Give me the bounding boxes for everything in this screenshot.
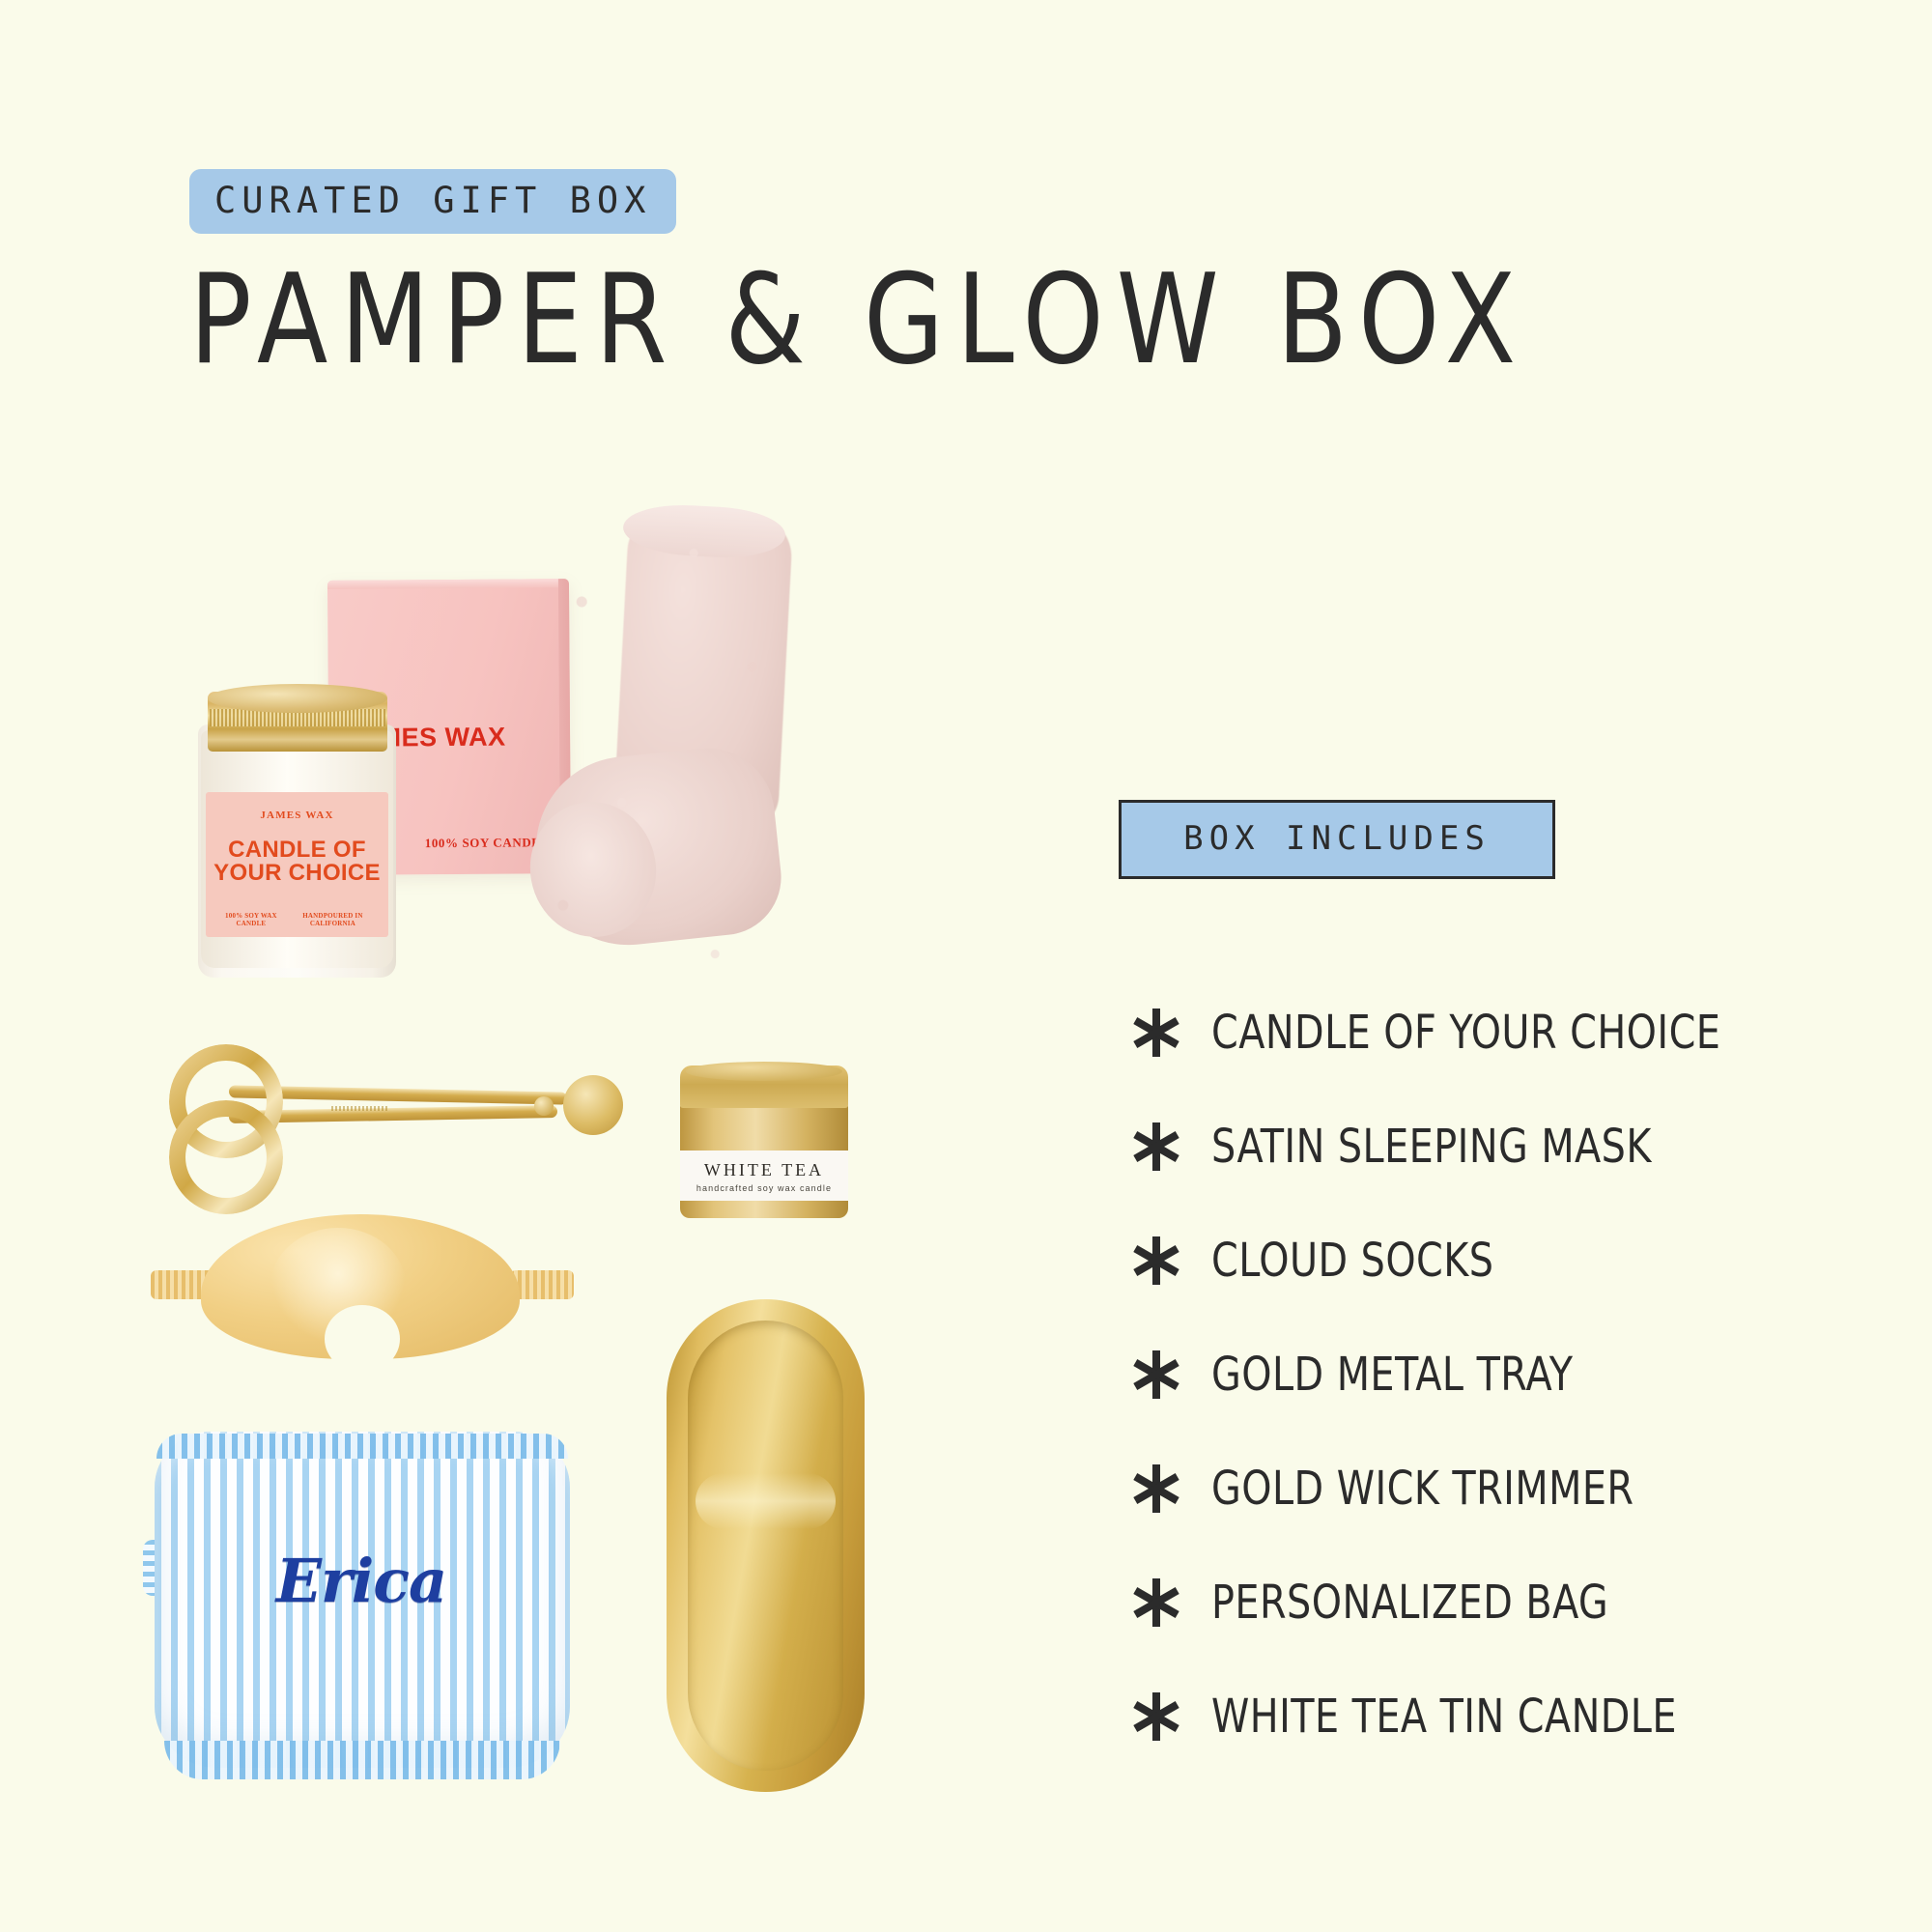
list-item: GOLD METAL TRAY xyxy=(1119,1318,1795,1432)
gold-metal-tray xyxy=(667,1299,865,1792)
asterisk-icon xyxy=(1119,1577,1194,1629)
tray-inner-well xyxy=(688,1321,843,1771)
asterisk-icon xyxy=(1119,1349,1194,1401)
product-collage: MES WAX 100% SOY CANDLE JAMES WAX CANDLE… xyxy=(0,0,1063,1932)
tin-label-subtitle: handcrafted soy wax candle xyxy=(680,1183,848,1193)
box-includes-panel: BOX INCLUDES CANDLE OF YOUR CHOICE xyxy=(1119,800,1795,1774)
asterisk-icon xyxy=(1119,1007,1194,1059)
asterisk-icon xyxy=(1119,1690,1194,1743)
list-item: PERSONALIZED BAG xyxy=(1119,1546,1795,1660)
jar-label-brand: JAMES WAX xyxy=(206,810,388,821)
cloud-socks xyxy=(536,512,787,1038)
list-item-label: CANDLE OF YOUR CHOICE xyxy=(1211,1006,1720,1060)
bag-monogram: Erica xyxy=(143,1546,580,1616)
tray-highlight xyxy=(696,1473,836,1529)
mask-nose-notch xyxy=(325,1305,400,1373)
jar-label-footnote-right: HANDPOURED IN CALIFORNIA xyxy=(287,912,379,927)
tin-label: WHITE TEA handcrafted soy wax candle xyxy=(680,1151,848,1201)
list-item-label: WHITE TEA TIN CANDLE xyxy=(1211,1690,1677,1744)
candle-jar: JAMES WAX CANDLE OF YOUR CHOICE 100% SOY… xyxy=(198,676,396,978)
list-item-label: SATIN SLEEPING MASK xyxy=(1211,1120,1652,1174)
trimmer-pivot-screw xyxy=(534,1096,554,1116)
list-item: CLOUD SOCKS xyxy=(1119,1204,1795,1318)
list-item: SATIN SLEEPING MASK xyxy=(1119,1090,1795,1204)
asterisk-icon xyxy=(1119,1463,1194,1515)
asterisk-icon xyxy=(1119,1121,1194,1173)
white-tea-tin-candle: WHITE TEA handcrafted soy wax candle xyxy=(676,1065,852,1220)
gold-wick-trimmer xyxy=(169,1048,623,1174)
list-item-label: GOLD WICK TRIMMER xyxy=(1211,1462,1634,1516)
bag-piping-top xyxy=(156,1434,568,1459)
list-item: GOLD WICK TRIMMER xyxy=(1119,1432,1795,1546)
box-includes-heading: BOX INCLUDES xyxy=(1119,800,1555,879)
tin-lid-top xyxy=(686,1062,842,1081)
personalized-bag: Erica xyxy=(143,1432,580,1779)
trimmer-engraving xyxy=(331,1106,389,1111)
trimmer-blade xyxy=(563,1075,623,1135)
jar-label-footnote-left: 100% SOY WAX CANDLE xyxy=(215,912,287,927)
list-item: WHITE TEA TIN CANDLE xyxy=(1119,1660,1795,1774)
satin-sleeping-mask xyxy=(155,1212,570,1372)
box-top-edge xyxy=(327,579,569,589)
list-item: CANDLE OF YOUR CHOICE xyxy=(1119,976,1795,1090)
jar-label: JAMES WAX CANDLE OF YOUR CHOICE 100% SOY… xyxy=(206,792,388,937)
trimmer-handle-lower xyxy=(169,1100,283,1214)
box-includes-list: CANDLE OF YOUR CHOICE SATIN SLEEPING MAS… xyxy=(1119,976,1795,1774)
tin-label-title: WHITE TEA xyxy=(680,1160,848,1180)
asterisk-icon xyxy=(1119,1235,1194,1287)
list-item-label: CLOUD SOCKS xyxy=(1211,1234,1493,1288)
jar-lid-top xyxy=(208,684,387,713)
bag-piping-bottom xyxy=(164,1741,560,1779)
jar-label-title-line2: YOUR CHOICE xyxy=(206,862,388,885)
list-item-label: GOLD METAL TRAY xyxy=(1211,1348,1573,1402)
list-item-label: PERSONALIZED BAG xyxy=(1211,1576,1608,1630)
jar-label-title-line1: CANDLE OF xyxy=(206,838,388,862)
